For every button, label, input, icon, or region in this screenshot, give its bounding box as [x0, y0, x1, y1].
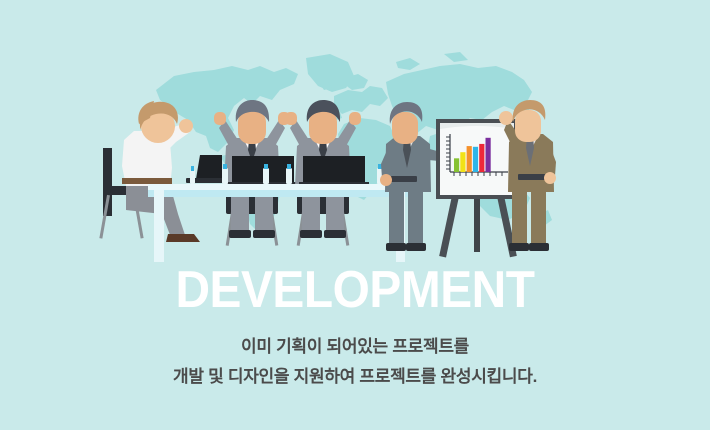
flipchart-easel — [436, 119, 518, 257]
page-title: DEVELOPMENT — [28, 262, 681, 318]
conference-table — [148, 184, 408, 262]
banner-text-block: DEVELOPMENT 이미 기획이 되어있는 프로젝트를 개발 및 디자인을 … — [0, 262, 710, 392]
chart-bar — [454, 158, 459, 172]
chart-bar — [479, 144, 484, 172]
chart-bar — [460, 152, 465, 172]
chart-bar — [473, 147, 478, 172]
team-illustration — [0, 0, 710, 265]
water-bottle — [190, 166, 195, 184]
laptop-right — [299, 156, 369, 186]
subtitle-line-2: 개발 및 디자인을 지원하여 프로젝트를 완성시킵니다. — [0, 362, 710, 392]
development-banner: DEVELOPMENT 이미 기획이 되어있는 프로젝트를 개발 및 디자인을 … — [0, 0, 710, 430]
subtitle-line-1: 이미 기획이 되어있는 프로젝트를 — [0, 332, 710, 362]
chart-bar — [467, 146, 472, 172]
chart-bar — [486, 138, 491, 172]
